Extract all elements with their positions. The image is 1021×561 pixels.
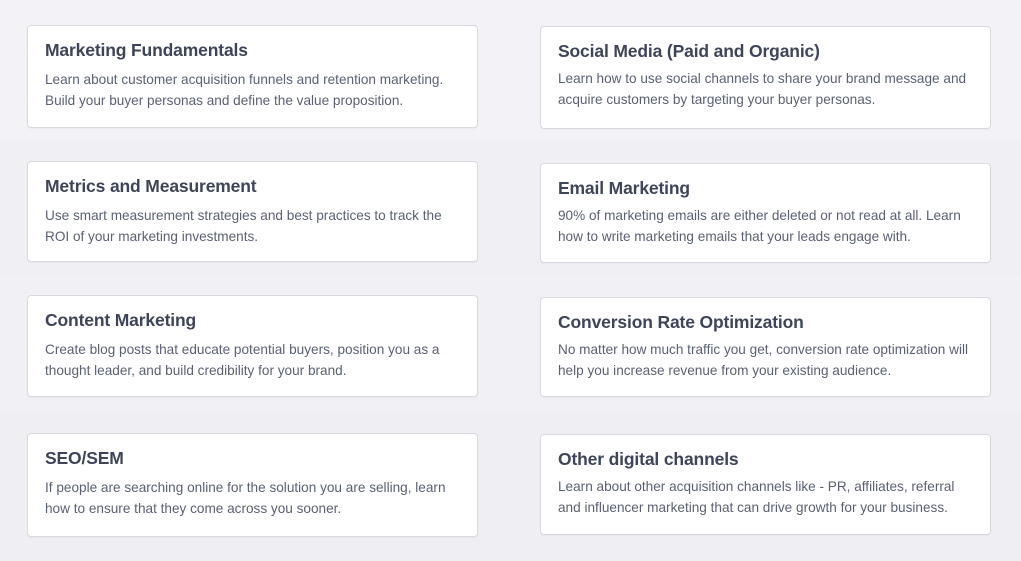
topic-card-title: Metrics and Measurement <box>45 176 460 198</box>
topic-card-description: Use smart measurement strategies and bes… <box>45 205 460 247</box>
topic-card-title: Other digital channels <box>558 449 973 471</box>
topic-card[interactable]: Metrics and Measurement Use smart measur… <box>27 161 478 262</box>
topic-card-description: Learn about customer acquisition funnels… <box>45 69 460 111</box>
topic-card-title: Conversion Rate Optimization <box>558 312 973 334</box>
topic-card[interactable]: Conversion Rate Optimization No matter h… <box>540 297 991 397</box>
topic-card-description: 90% of marketing emails are either delet… <box>558 205 973 247</box>
topic-card-title: Marketing Fundamentals <box>45 40 460 62</box>
topic-card-title: Social Media (Paid and Organic) <box>558 41 973 63</box>
topic-card-description: Learn about other acquisition channels l… <box>558 476 973 518</box>
topic-card-description: Create blog posts that educate potential… <box>45 339 460 381</box>
topic-card[interactable]: Marketing Fundamentals Learn about custo… <box>27 25 478 128</box>
topic-card-description: Learn how to use social channels to shar… <box>558 68 973 110</box>
topic-card-description: No matter how much traffic you get, conv… <box>558 339 973 381</box>
topic-card[interactable]: Social Media (Paid and Organic) Learn ho… <box>540 26 991 129</box>
topic-card[interactable]: SEO/SEM If people are searching online f… <box>27 433 478 537</box>
topic-card[interactable]: Email Marketing 90% of marketing emails … <box>540 163 991 263</box>
topic-card-description: If people are searching online for the s… <box>45 477 460 519</box>
topic-card-grid: Marketing Fundamentals Learn about custo… <box>0 0 1021 561</box>
topic-card[interactable]: Other digital channels Learn about other… <box>540 434 991 535</box>
topic-card-title: Email Marketing <box>558 178 973 200</box>
topic-card-title: SEO/SEM <box>45 448 460 470</box>
topic-card-title: Content Marketing <box>45 310 460 332</box>
topic-card[interactable]: Content Marketing Create blog posts that… <box>27 295 478 397</box>
